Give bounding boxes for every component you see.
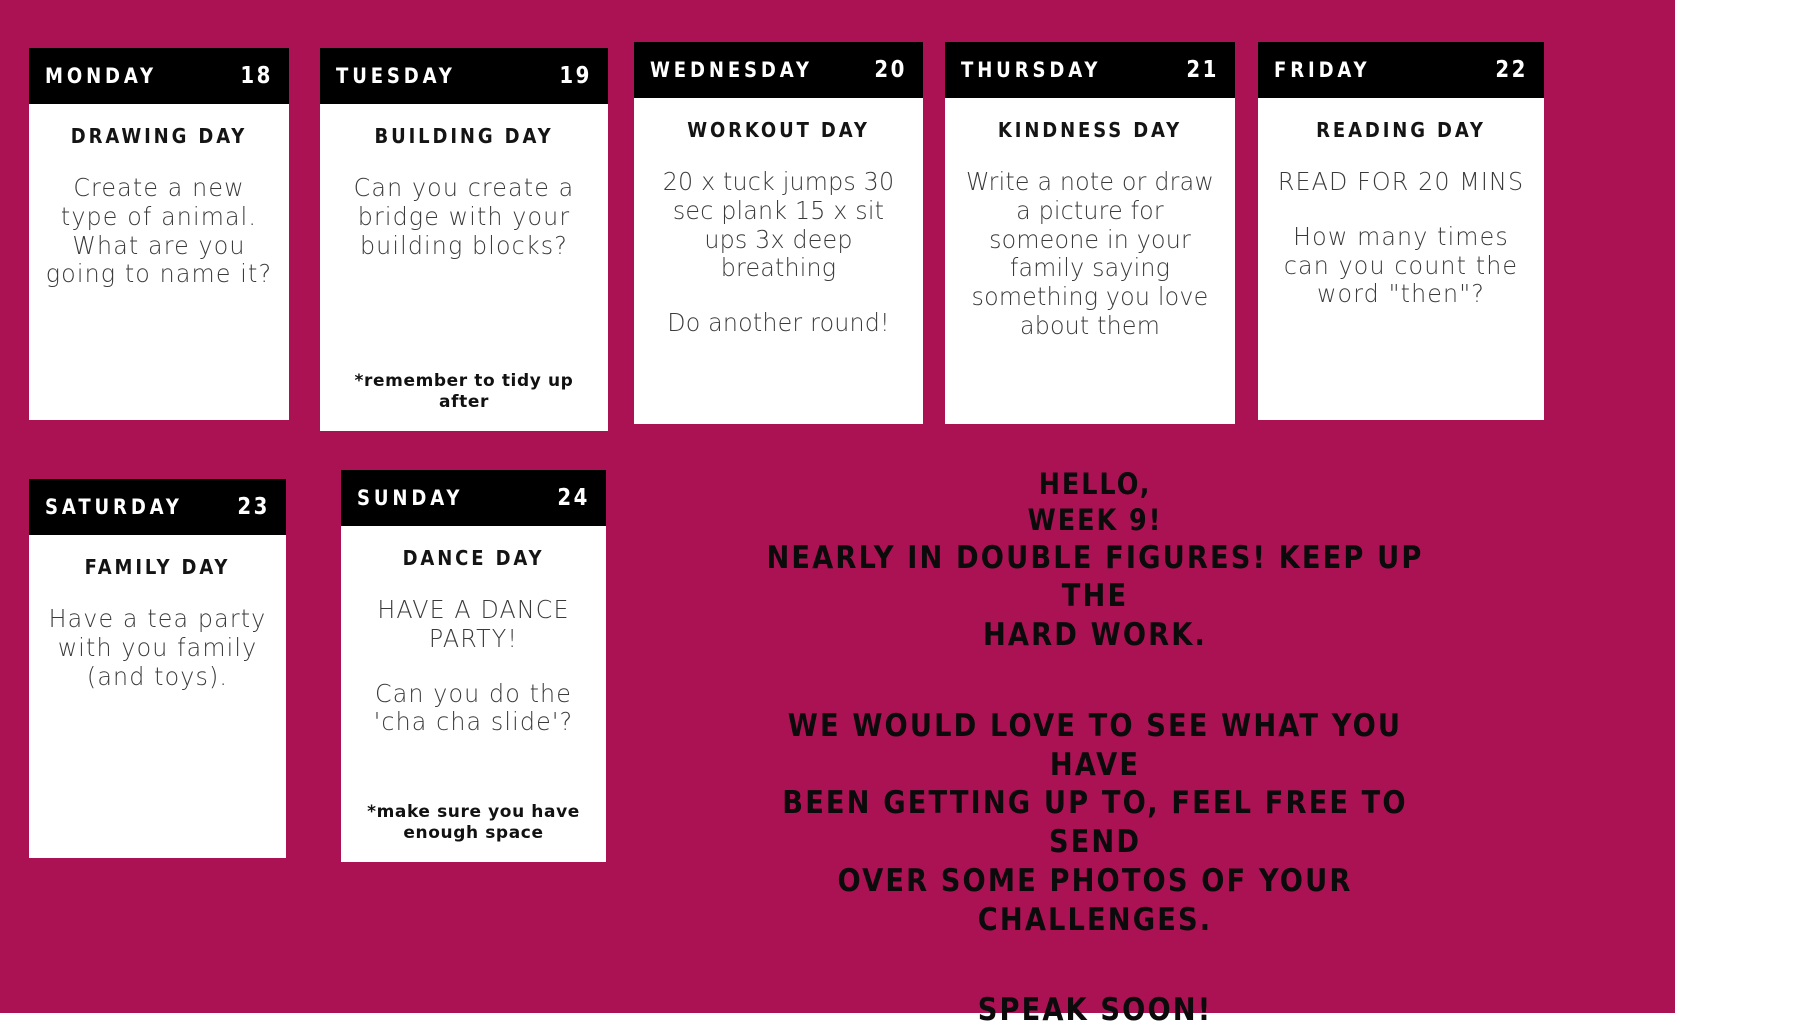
card-title-friday: READING DAY (1281, 118, 1520, 142)
card-header-tuesday: TUESDAY 19 (320, 48, 608, 104)
card-header-wednesday: WEDNESDAY 20 (634, 42, 923, 98)
day-card-tuesday: TUESDAY 19 BUILDING DAY Can you create a… (320, 48, 608, 431)
message-line-2: WEEK 9! (739, 502, 1452, 538)
card-body-thursday: KINDNESS DAY Write a note or draw a pict… (945, 98, 1235, 424)
day-name-sunday: SUNDAY (357, 488, 463, 509)
day-card-sunday: SUNDAY 24 DANCE DAY HAVE A DANCE PARTY! … (341, 470, 606, 862)
card-title-sunday: DANCE DAY (363, 546, 584, 570)
card-title-monday: DRAWING DAY (51, 124, 267, 148)
card-body-tuesday: BUILDING DAY Can you create a bridge wit… (320, 104, 608, 431)
day-card-thursday: THURSDAY 21 KINDNESS DAY Write a note or… (945, 42, 1235, 424)
day-number-monday: 18 (240, 65, 273, 88)
poster-canvas: MONDAY 18 DRAWING DAY Create a new type … (0, 0, 1675, 1013)
card-note-sunday: *make sure you have enough space (351, 802, 596, 845)
message-line-1: HELLO, (739, 466, 1452, 502)
message-line-5: WE WOULD LOVE TO SEE WHAT YOU HAVE (739, 707, 1452, 785)
message-line-7: OVER SOME PHOTOS OF YOUR CHALLENGES. (739, 862, 1452, 940)
card-text-wednesday: 20 x tuck jumps 30 sec plank 15 x sit up… (651, 168, 907, 283)
message-line-4: HARD WORK. (739, 616, 1452, 655)
card-title-tuesday: BUILDING DAY (343, 124, 584, 148)
day-name-tuesday: TUESDAY (336, 66, 456, 87)
brand-rail: COMMUNITY FUND WEEK 9 MAY 18-24 mencap G… (1675, 0, 1800, 1013)
card-title-saturday: FAMILY DAY (51, 555, 264, 579)
card-header-saturday: SATURDAY 23 (29, 479, 286, 535)
card-body-monday: DRAWING DAY Create a new type of animal.… (29, 104, 289, 420)
card-body-friday: READING DAY READ FOR 20 MINS How many ti… (1258, 98, 1544, 420)
card-title-wednesday: WORKOUT DAY (657, 118, 899, 142)
day-card-friday: FRIDAY 22 READING DAY READ FOR 20 MINS H… (1258, 42, 1544, 420)
day-number-wednesday: 20 (874, 59, 907, 82)
day-card-saturday: SATURDAY 23 FAMILY DAY Have a tea party … (29, 479, 286, 858)
card-header-monday: MONDAY 18 (29, 48, 289, 104)
day-number-thursday: 21 (1186, 59, 1219, 82)
card-text-saturday: Have a tea party with you family (and to… (45, 605, 270, 691)
welcome-message-block: HELLO, WEEK 9! NEARLY IN DOUBLE FIGURES!… (690, 466, 1500, 1030)
card-text-thursday: Write a note or draw a picture for someo… (962, 168, 1219, 341)
message-line-6: BEEN GETTING UP TO, FEEL FREE TO SEND (739, 784, 1452, 862)
message-line-3: NEARLY IN DOUBLE FIGURES! KEEP UP THE (739, 539, 1452, 617)
day-number-tuesday: 19 (559, 65, 592, 88)
day-card-monday: MONDAY 18 DRAWING DAY Create a new type … (29, 48, 289, 420)
card-body-saturday: FAMILY DAY Have a tea party with you fam… (29, 535, 286, 858)
day-number-saturday: 23 (237, 496, 270, 519)
day-name-wednesday: WEDNESDAY (650, 60, 813, 81)
card-text-friday-secondary: How many times can you count the word "t… (1275, 223, 1528, 309)
card-title-thursday: KINDNESS DAY (969, 118, 1212, 142)
card-header-friday: FRIDAY 22 (1258, 42, 1544, 98)
message-spacer-1 (690, 655, 1500, 707)
card-header-thursday: THURSDAY 21 (945, 42, 1235, 98)
message-line-8: SPEAK SOON! (739, 991, 1452, 1030)
card-text-monday: Create a new type of animal. What are yo… (45, 174, 273, 289)
day-number-sunday: 24 (557, 487, 590, 510)
card-text-friday: READ FOR 20 MINS (1275, 168, 1528, 197)
card-note-tuesday: *remember to tidy up after (330, 371, 598, 414)
day-name-saturday: SATURDAY (45, 497, 183, 518)
card-text-sunday-secondary: Can you do the 'cha cha slide'? (357, 680, 590, 738)
day-name-friday: FRIDAY (1274, 60, 1371, 81)
poster-root: MONDAY 18 DRAWING DAY Create a new type … (0, 0, 1800, 1013)
card-body-wednesday: WORKOUT DAY 20 x tuck jumps 30 sec plank… (634, 98, 923, 424)
card-body-sunday: DANCE DAY HAVE A DANCE PARTY! Can you do… (341, 526, 606, 862)
day-card-wednesday: WEDNESDAY 20 WORKOUT DAY 20 x tuck jumps… (634, 42, 923, 424)
card-header-sunday: SUNDAY 24 (341, 470, 606, 526)
card-text-wednesday-secondary: Do another round! (651, 309, 907, 338)
day-name-thursday: THURSDAY (961, 60, 1101, 81)
day-name-monday: MONDAY (45, 66, 157, 87)
card-text-sunday: HAVE A DANCE PARTY! (357, 596, 590, 654)
card-text-tuesday: Can you create a bridge with your buildi… (337, 174, 592, 260)
message-spacer-2 (690, 939, 1500, 991)
day-number-friday: 22 (1495, 59, 1528, 82)
